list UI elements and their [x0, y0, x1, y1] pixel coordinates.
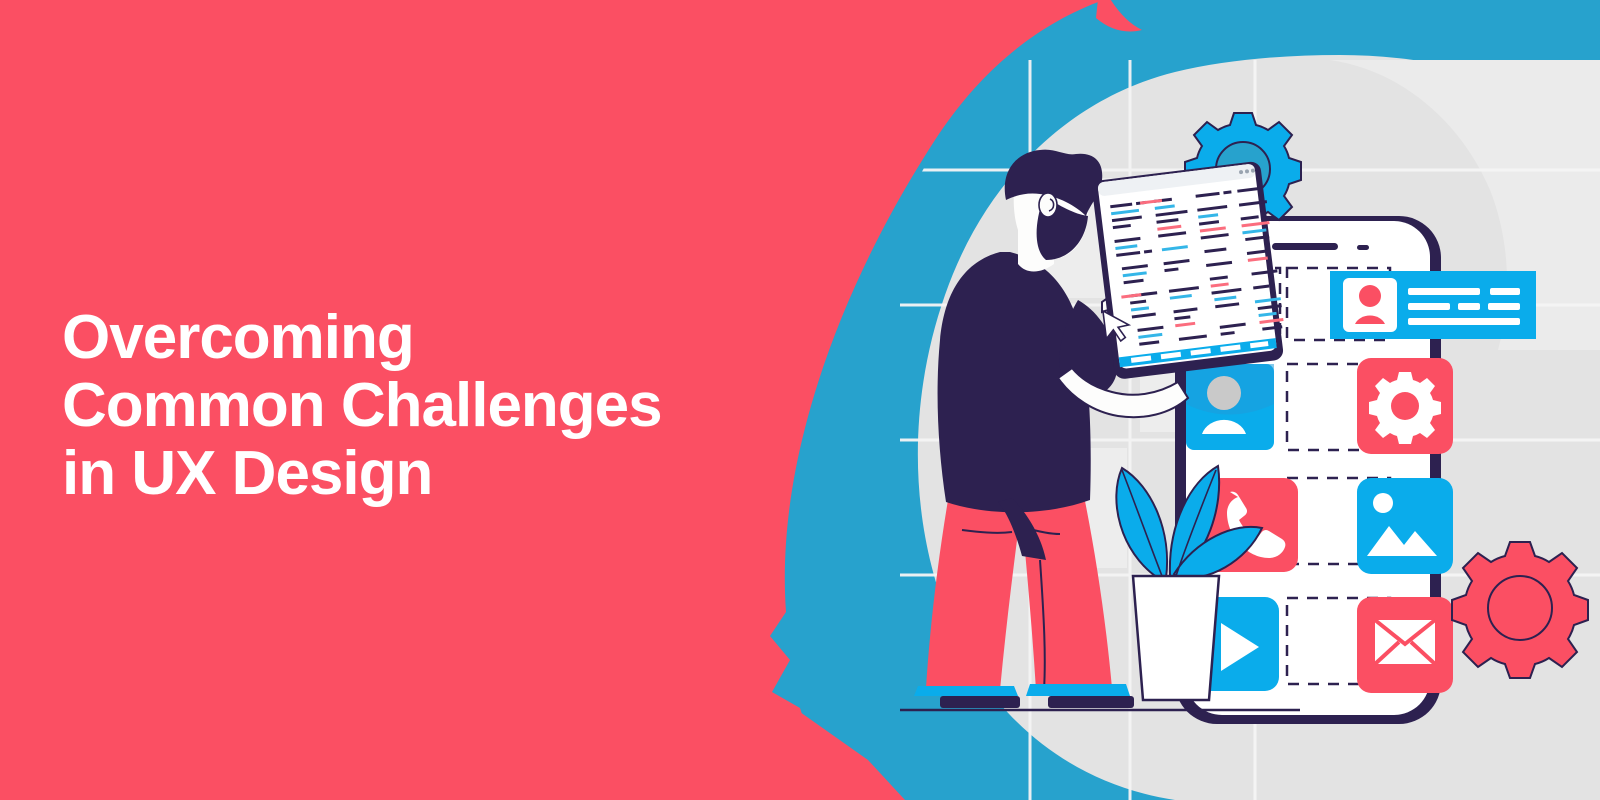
page-title: Overcoming Common Challenges in UX Desig… — [62, 304, 852, 509]
headline-line-1: Overcoming — [62, 304, 852, 372]
phone-camera — [1357, 245, 1369, 250]
contact-card-icon — [1330, 271, 1536, 339]
plant-pot — [1133, 576, 1219, 700]
avatar-contact-icon — [1186, 364, 1274, 450]
tablet-document — [1087, 160, 1288, 380]
gear-icon-red — [1452, 542, 1588, 678]
banner: Overcoming Common Challenges in UX Desig… — [0, 0, 1600, 800]
character-ear — [1039, 193, 1057, 217]
headline-line-3: in UX Design — [62, 440, 852, 508]
gear-settings-icon — [1357, 358, 1453, 454]
headline-line-2: Common Challenges — [62, 372, 852, 440]
image-photo-icon — [1357, 478, 1453, 574]
mail-envelope-icon — [1357, 597, 1453, 693]
phone-speaker — [1272, 243, 1338, 250]
